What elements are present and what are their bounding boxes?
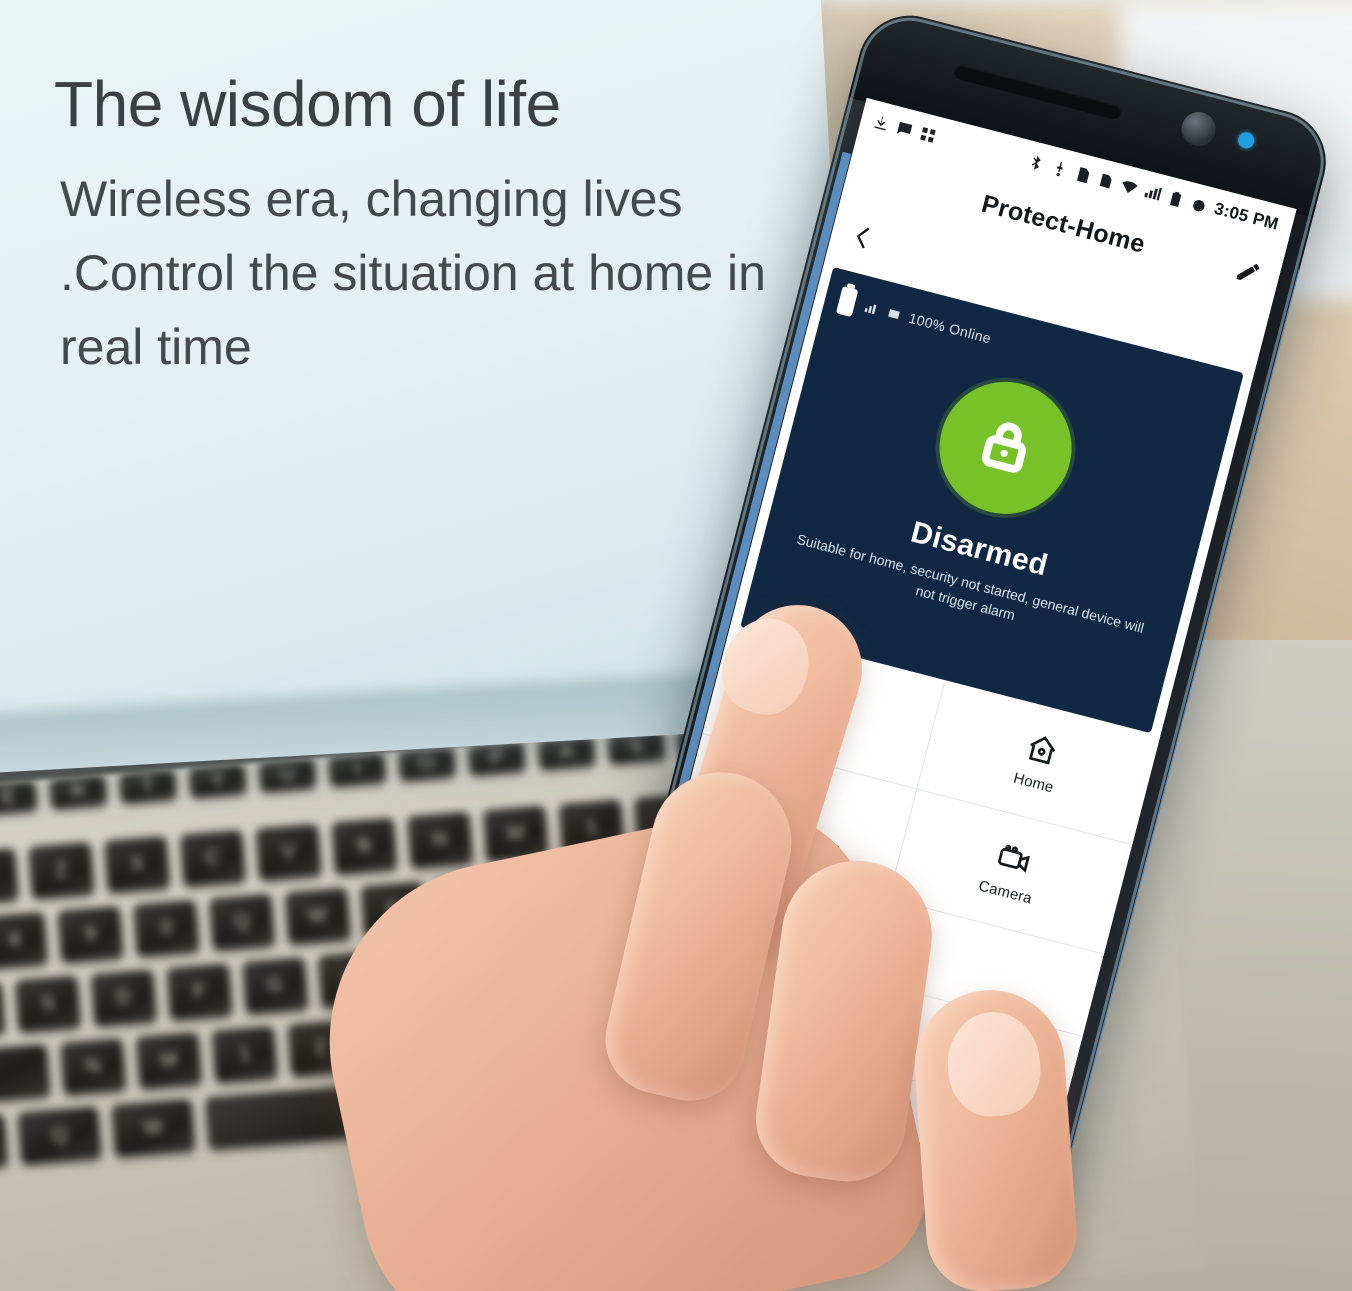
sensor-led-icon: [1236, 131, 1255, 150]
quick-action-label: Camera: [977, 877, 1034, 907]
front-camera-icon: [1178, 108, 1219, 149]
bell-icon: [677, 875, 711, 909]
apps-icon: [918, 124, 939, 145]
message-icon: [894, 118, 915, 139]
home-icon[interactable]: [816, 1125, 839, 1148]
subheadline: Wireless era, changing lives .Control th…: [54, 162, 794, 384]
briefcase-icon: [778, 783, 819, 824]
quick-action-label: Home: [1012, 770, 1056, 797]
pencil-icon[interactable]: [1232, 256, 1264, 288]
earpiece-speaker: [953, 63, 1123, 121]
list-item-text: Accessories: [700, 973, 788, 1012]
card-meta-label: 100% Online: [907, 310, 993, 347]
battery-icon: [836, 286, 859, 317]
recents-icon[interactable]: [673, 1088, 696, 1111]
headline: The wisdom of life: [54, 72, 794, 136]
signal-icon: [863, 299, 881, 317]
status-bar-time: 3:05 PM: [1212, 199, 1281, 235]
quick-action-label: Work Schedule: [737, 815, 842, 858]
bluetooth-icon: [1026, 152, 1047, 173]
sensor-icon: [656, 957, 690, 991]
poster-canvas: QWERTYUIOPASDFGHJKLZXCVBNM1234567890QWER…: [0, 0, 1352, 1291]
alarm-icon: [1189, 194, 1210, 215]
signal-icon: [1143, 182, 1164, 203]
status-bar-left-icons: [871, 112, 938, 145]
quick-action-label: Arming: [792, 713, 843, 742]
card-meta-text: 100% Online: [863, 298, 993, 346]
sd-card-icon: [1073, 164, 1094, 185]
marketing-copy: The wisdom of life Wireless era, changin…: [54, 72, 794, 384]
camera-icon: [993, 838, 1034, 879]
download-icon: [871, 112, 892, 133]
wifi-icon: [1119, 176, 1140, 197]
link-icon: [885, 305, 903, 323]
lock-icon: [970, 410, 1042, 486]
back-icon[interactable]: [959, 1162, 982, 1185]
usb-icon: [1050, 158, 1071, 179]
list-item-title: Accessories: [700, 973, 788, 1012]
gear-icon: [635, 1040, 669, 1074]
list-item-text: Setting: [679, 1055, 732, 1085]
sim-icon: [1096, 170, 1117, 191]
list-item-title: Setting: [679, 1055, 732, 1085]
lock-toggle-button[interactable]: [925, 367, 1086, 528]
battery-icon: [1166, 188, 1187, 209]
home-icon: [1021, 729, 1062, 770]
shield-check-icon: [806, 673, 847, 714]
chevron-left-icon[interactable]: [848, 220, 877, 255]
